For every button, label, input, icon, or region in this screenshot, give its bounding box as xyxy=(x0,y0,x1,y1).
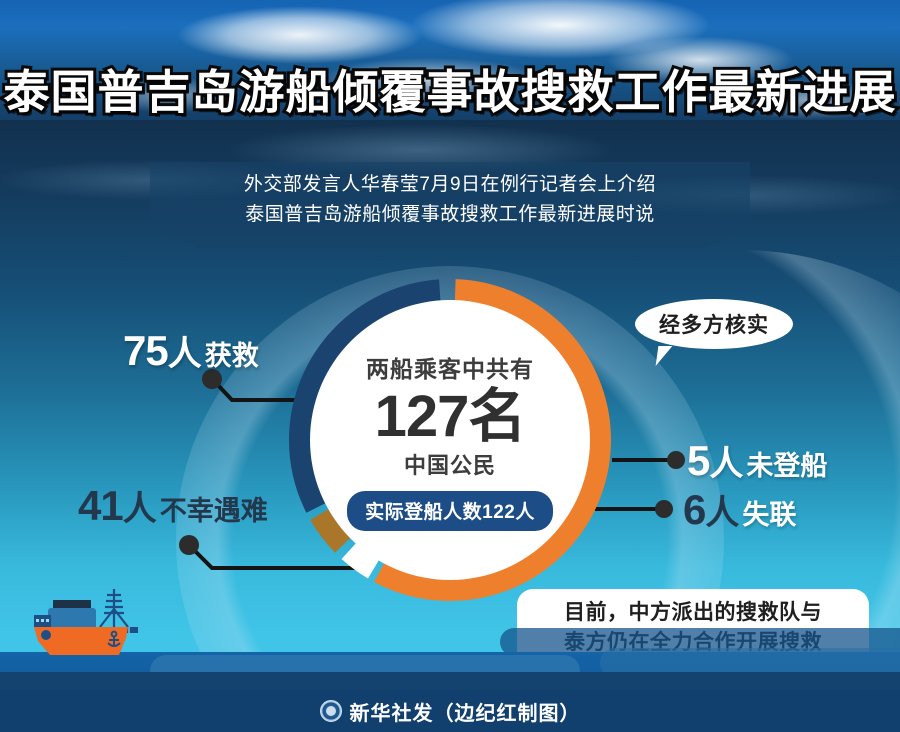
callout-rescue-line-1: 目前，中方派出的搜救队与 xyxy=(564,599,822,627)
footer-bar: 新华社发（边纪红制图） xyxy=(0,690,900,732)
ship-funnel xyxy=(53,600,91,609)
footer-credit: 新华社发（边纪红制图） xyxy=(350,697,581,726)
center-total-number: 127名 xyxy=(375,388,526,446)
boarded-count-badge: 实际登船人数122人 xyxy=(347,491,553,531)
stat-not-boarded: 5人未登船 xyxy=(687,440,827,482)
stat-missing: 6人失联 xyxy=(683,489,796,531)
stat-not-boarded-unit: 人 xyxy=(709,445,743,483)
callout-verified-text: 经多方核实 xyxy=(659,309,769,339)
donut-center-text: 两船乘客中共有 127名 中国公民 实际登船人数122人 xyxy=(310,300,590,580)
stat-rescued-unit: 人 xyxy=(168,335,202,373)
callout-verified-tail xyxy=(656,346,682,366)
stat-rescued: 75人获救 xyxy=(123,330,259,372)
stat-dead-unit: 人 xyxy=(123,490,157,528)
leader-line-notboard xyxy=(612,451,685,469)
stat-not-boarded-label: 未登船 xyxy=(746,451,827,481)
stat-rescued-label: 获救 xyxy=(205,341,259,371)
cargo-ship-icon xyxy=(20,583,210,678)
ship-porthole xyxy=(41,630,51,640)
stat-dead: 41人不幸遇难 xyxy=(78,485,268,527)
stat-not-boarded-number: 5 xyxy=(687,437,709,484)
xinhua-seal-icon xyxy=(320,700,342,722)
ship-windows xyxy=(36,619,49,622)
ship-mast xyxy=(100,589,128,629)
stat-rescued-number: 75 xyxy=(123,327,168,374)
infographic-canvas: 泰国普吉岛游船倾覆事故搜救工作最新进展 外交部发言人华春莹7月9日在例行记者会上… xyxy=(0,0,900,732)
center-caption-top: 两船乘客中共有 xyxy=(366,350,534,384)
center-caption-sub: 中国公民 xyxy=(404,448,496,480)
stat-missing-unit: 人 xyxy=(705,494,739,532)
donut-chart: 两船乘客中共有 127名 中国公民 实际登船人数122人 xyxy=(283,273,617,607)
callout-verified: 经多方核实 xyxy=(635,299,793,349)
stat-dead-label: 不幸遇难 xyxy=(160,496,268,526)
stat-missing-number: 6 xyxy=(683,486,705,533)
stat-missing-label: 失联 xyxy=(742,500,796,530)
stat-dead-number: 41 xyxy=(78,482,123,529)
